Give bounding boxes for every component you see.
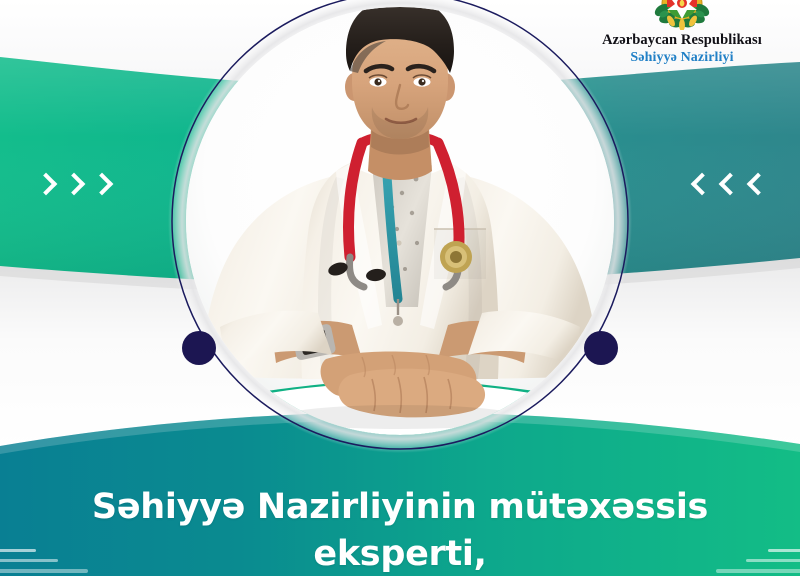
poster-canvas: Azərbaycan Respublikası Səhiyyə Nazirliy… — [0, 0, 800, 576]
chevron-right-icon — [64, 172, 80, 198]
caption-line-1: Səhiyyə Nazirliyinin mütəxəssis eksperti… — [92, 487, 708, 574]
chevron-right-icon — [36, 172, 52, 198]
doctor-portrait-illustration — [186, 7, 614, 435]
chevron-left-icon — [748, 172, 764, 198]
chevron-left-icon — [720, 172, 736, 198]
ministry-logo-block: Azərbaycan Respublikası Səhiyyə Nazirliy… — [566, 0, 798, 66]
chevron-right-icon — [92, 172, 108, 198]
doctor-portrait — [186, 7, 614, 435]
ministry-name-line1: Azərbaycan Respublikası — [566, 32, 798, 49]
chevrons-left — [36, 172, 108, 198]
azerbaijan-state-emblem — [651, 0, 713, 30]
ministry-name-line2: Səhiyyə Nazirliyi — [566, 50, 798, 67]
emblem-wrap — [566, 0, 798, 30]
chevron-left-icon — [692, 172, 708, 198]
poster-caption: Səhiyyə Nazirliyinin mütəxəssis eksperti… — [0, 484, 800, 576]
chevrons-right — [692, 172, 764, 198]
